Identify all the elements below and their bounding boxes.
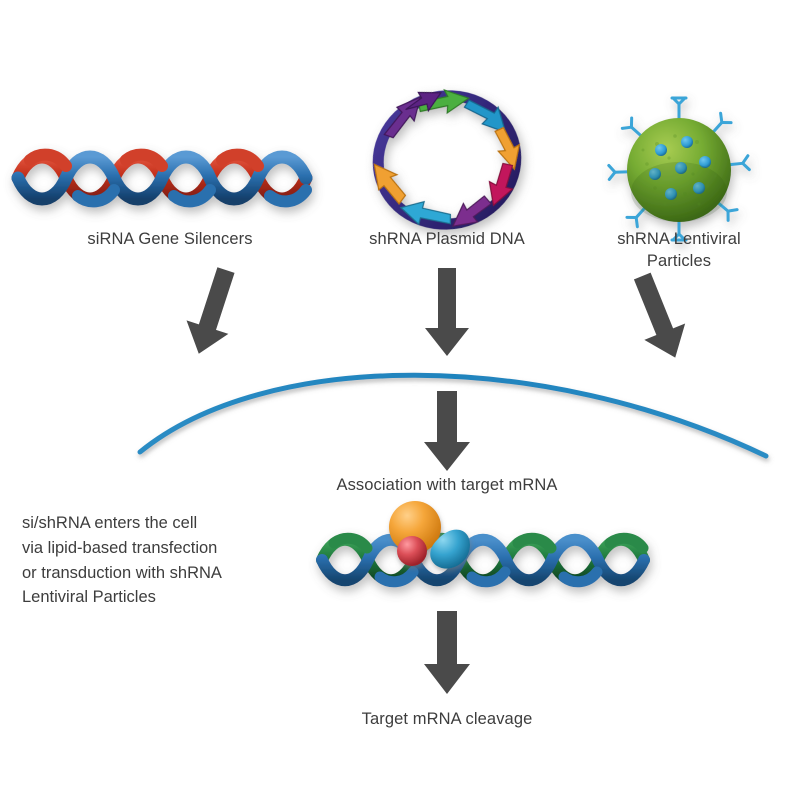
risc-complex-graphic [389,501,470,569]
target-mrna-graphic [322,538,644,581]
cleavage-label: Target mRNA cleavage [322,708,572,730]
association-label: Association with target mRNA [297,474,597,496]
sirna-label: siRNA Gene Silencers [50,228,290,250]
arrow-plasmid-to-cell-graphic [425,268,469,356]
arrow-into-cell-graphic [424,391,470,471]
cell-membrane-graphic [140,375,766,456]
diagram-canvas: siRNA Gene Silencers shRNA Plasmid DNA s… [0,0,800,800]
lentiviral-particle-graphic [609,98,750,240]
plasmid-label: shRNA Plasmid DNA [332,228,562,250]
diagram-graphics [0,0,800,800]
lentiviral-label: shRNA Lentiviral Particles [589,228,769,273]
plasmid-graphic [361,74,534,241]
sirna-helix-graphic [18,155,306,202]
entry-note: si/shRNA enters the cell via lipid-based… [22,511,292,610]
arrow-lentiviral-to-cell-graphic [622,268,696,366]
arrow-to-cleavage-graphic [424,611,470,694]
arrow-sirna-to-cell-graphic [178,263,247,360]
